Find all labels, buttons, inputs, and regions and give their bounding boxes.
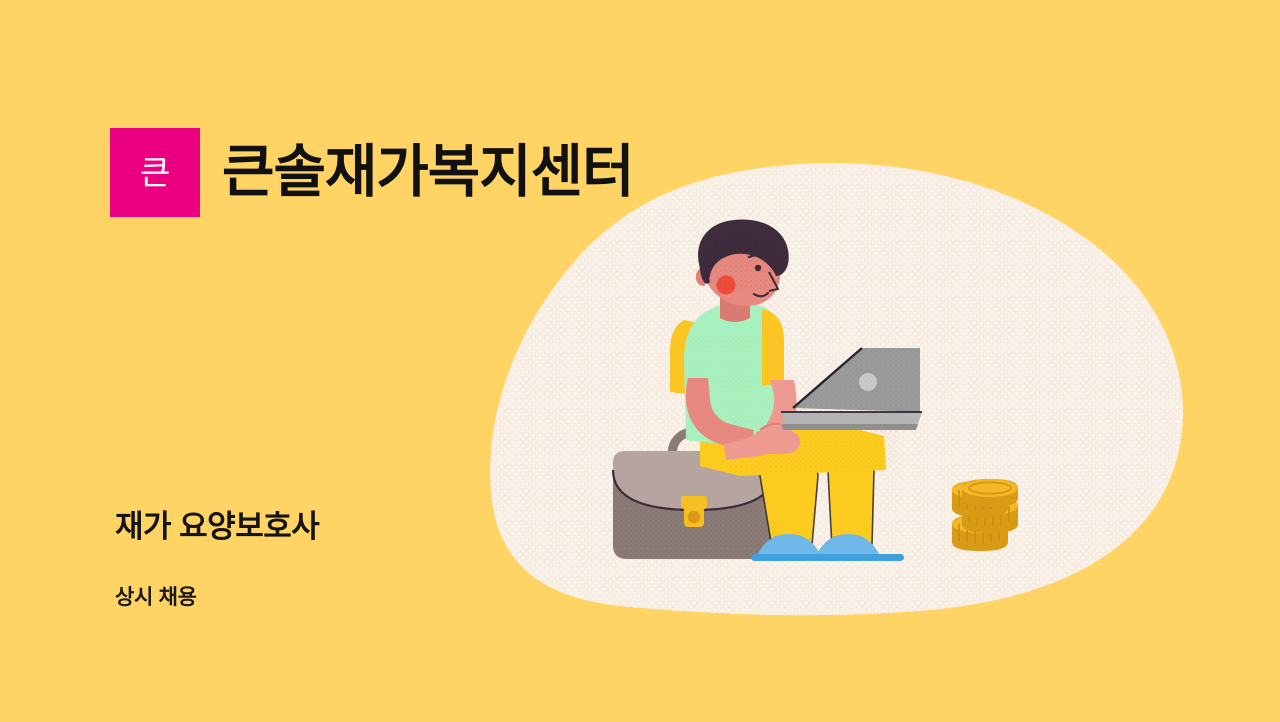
hiring-status: 상시 채용	[115, 585, 319, 611]
company-name: 큰솔재가복지센터	[222, 143, 634, 203]
job-title: 재가 요양보호사	[115, 508, 319, 547]
company-logo-glyph: 큰	[140, 156, 170, 189]
job-posting-banner: 큰 큰솔재가복지센터 재가 요양보호사 상시 채용	[0, 0, 1280, 722]
background-blob	[0, 0, 1280, 722]
posting-text-block: 재가 요양보호사 상시 채용	[115, 508, 319, 611]
company-logo-badge: 큰	[110, 128, 200, 217]
header: 큰 큰솔재가복지센터	[110, 128, 634, 217]
